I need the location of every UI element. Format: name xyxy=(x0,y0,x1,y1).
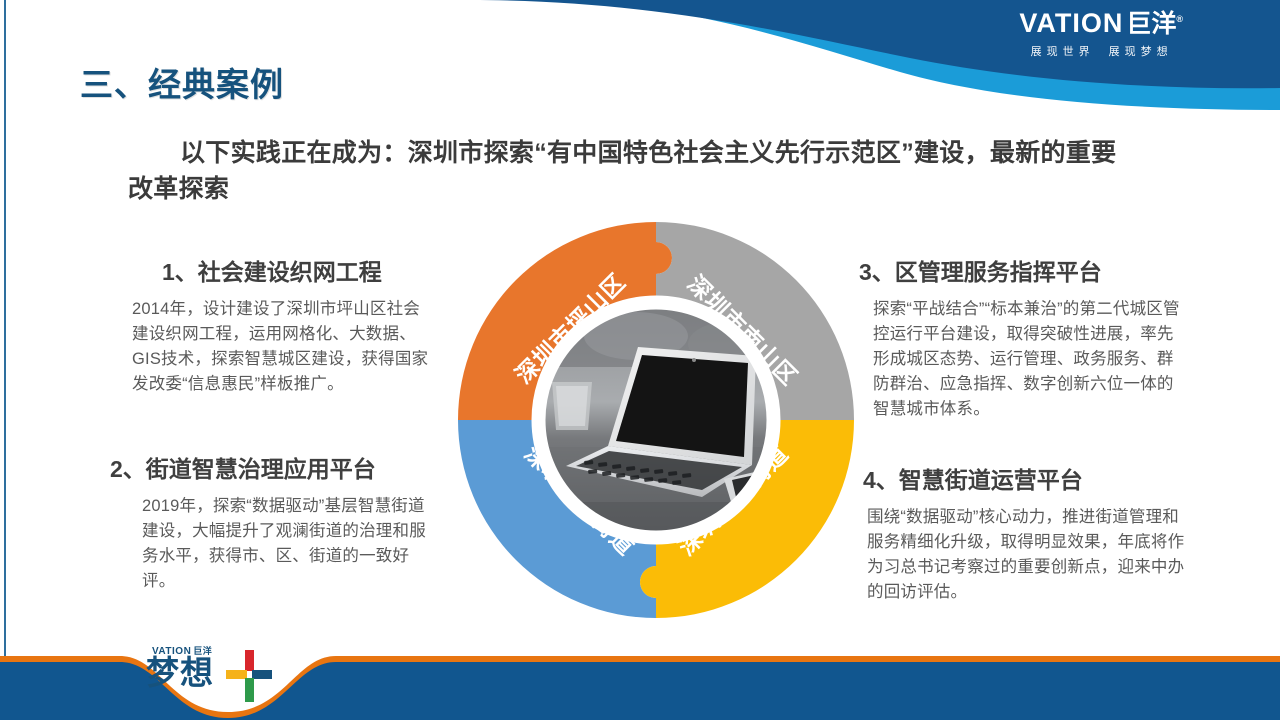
header-logo-wordmark: VATION巨洋® xyxy=(1019,10,1184,37)
case-3-heading: 3、区管理服务指挥平台 xyxy=(855,258,1185,287)
cross-arm-left xyxy=(226,670,247,679)
case-block-1: 1、社会建设织网工程 2014年，设计建设了深圳市坪山区社会建设织网工程，运用网… xyxy=(110,258,440,397)
case-1-body: 2014年，设计建设了深圳市坪山区社会建设织网工程，运用网格化、大数据、GIS技… xyxy=(110,297,432,397)
case-2-heading: 2、街道智慧治理应用平台 xyxy=(110,455,440,484)
slide: VATION巨洋® 展现世界展现梦想 三、经典案例 以下实践正在成为：深圳市探索… xyxy=(0,0,1280,720)
left-edge-rule xyxy=(4,0,6,668)
footer-logo-slogan: 梦想 xyxy=(146,656,214,689)
registered-mark-icon: ® xyxy=(1176,14,1184,24)
case-1-heading: 1、社会建设织网工程 xyxy=(110,258,440,287)
slide-subtitle-text: 以下实践正在成为：深圳市探索“有中国特色社会主义先行示范区”建设，最新的重要改革… xyxy=(128,139,1116,203)
tagline-right: 展现梦想 xyxy=(1109,46,1173,58)
cross-arm-bottom xyxy=(245,678,254,702)
case-4-body: 围绕“数据驱动”核心动力，推进街道管理和服务精细化升级，取得明显效果，年底将作为… xyxy=(855,505,1185,605)
cross-arm-right xyxy=(252,670,272,679)
header-logo-tagline: 展现世界展现梦想 xyxy=(1019,43,1184,59)
case-2-body: 2019年，探索“数据驱动”基层智慧街道建设，大幅提升了观澜街道的治理和服务水平… xyxy=(110,494,434,594)
header-logo-latin: VATION xyxy=(1019,8,1123,38)
case-4-heading: 4、智慧街道运营平台 xyxy=(855,466,1185,495)
cross-arm-top xyxy=(245,650,254,671)
header-logo: VATION巨洋® 展现世界展现梦想 xyxy=(1019,10,1184,59)
footer-logo: VATION巨洋 梦想 xyxy=(140,644,320,706)
case-3-body: 探索“平战结合”“标本兼治”的第二代城区管控运行平台建设，取得突破性进展，率先形… xyxy=(855,297,1185,422)
case-block-3: 3、区管理服务指挥平台 探索“平战结合”“标本兼治”的第二代城区管控运行平台建设… xyxy=(855,258,1185,422)
right-content-column: 3、区管理服务指挥平台 探索“平战结合”“标本兼治”的第二代城区管控运行平台建设… xyxy=(855,258,1185,627)
colored-cross-icon xyxy=(226,650,272,702)
tagline-left: 展现世界 xyxy=(1031,46,1095,58)
slide-subtitle: 以下实践正在成为：深圳市探索“有中国特色社会主义先行示范区”建设，最新的重要改革… xyxy=(128,136,1138,207)
left-content-column: 1、社会建设织网工程 2014年，设计建设了深圳市坪山区社会建设织网工程，运用网… xyxy=(110,258,440,616)
header-logo-cn: 巨洋 xyxy=(1126,10,1176,38)
case-block-4: 4、智慧街道运营平台 围绕“数据驱动”核心动力，推进街道管理和服务精细化升级，取… xyxy=(855,466,1185,605)
page-title: 三、经典案例 xyxy=(80,58,284,106)
case-block-2: 2、街道智慧治理应用平台 2019年，探索“数据驱动”基层智慧街道建设，大幅提升… xyxy=(110,455,440,594)
puzzle-wheel-diagram: 深圳市坪山区 深圳市南山区 深圳观澜街道 深圳 xyxy=(456,214,856,626)
